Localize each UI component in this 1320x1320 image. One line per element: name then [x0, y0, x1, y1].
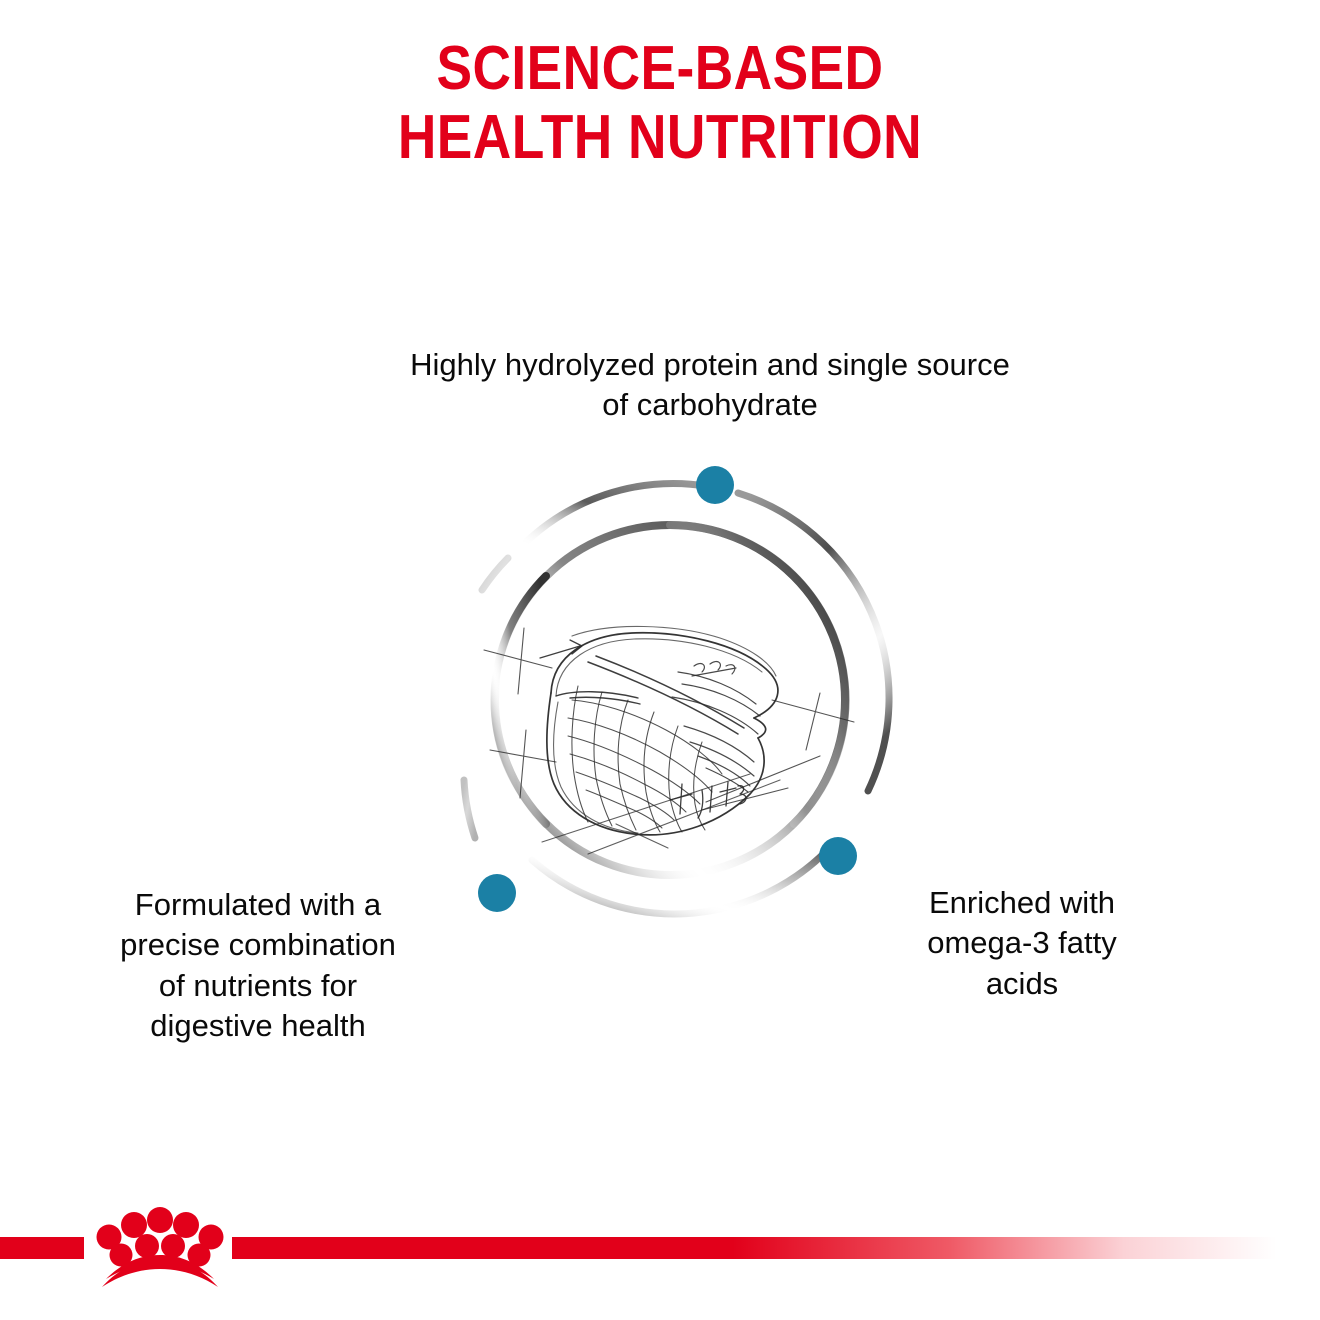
outer-arc-right — [738, 493, 889, 791]
inner-ring-b — [670, 525, 846, 824]
outer-arc-left-lower — [464, 780, 475, 838]
callout-left-line-4: digestive health — [48, 1006, 468, 1046]
callout-left-line-1: Formulated with a — [48, 885, 468, 925]
page-title: SCIENCE-BASED HEALTH NUTRITION — [92, 34, 1227, 173]
inner-ring-c — [494, 576, 546, 824]
callout-left-line-3: of nutrients for — [48, 966, 468, 1006]
page-title-line-1: SCIENCE-BASED — [92, 34, 1227, 103]
outer-arc-top — [519, 484, 708, 549]
callout-left-line-2: precise combination — [48, 925, 468, 965]
brand-band-right-segment — [232, 1237, 1320, 1259]
outer-arc-left-upper — [482, 558, 508, 590]
callout-top-line-2: of carbohydrate — [300, 385, 1120, 425]
callout-top-line-1: Highly hydrolyzed protein and single sou… — [300, 345, 1120, 385]
brand-band-left-segment — [0, 1237, 84, 1259]
royal-canin-crown-logo — [86, 1205, 234, 1291]
callout-left: Formulated with a precise combination of… — [48, 885, 468, 1046]
marker-dot-right[interactable] — [819, 837, 857, 875]
page-title-line-2: HEALTH NUTRITION — [92, 103, 1227, 172]
kibble-science-diagram — [420, 450, 920, 950]
callout-right-line-3: acids — [872, 964, 1172, 1004]
marker-dot-top[interactable] — [696, 466, 734, 504]
callout-top: Highly hydrolyzed protein and single sou… — [300, 345, 1120, 426]
marker-dot-left[interactable] — [478, 874, 516, 912]
